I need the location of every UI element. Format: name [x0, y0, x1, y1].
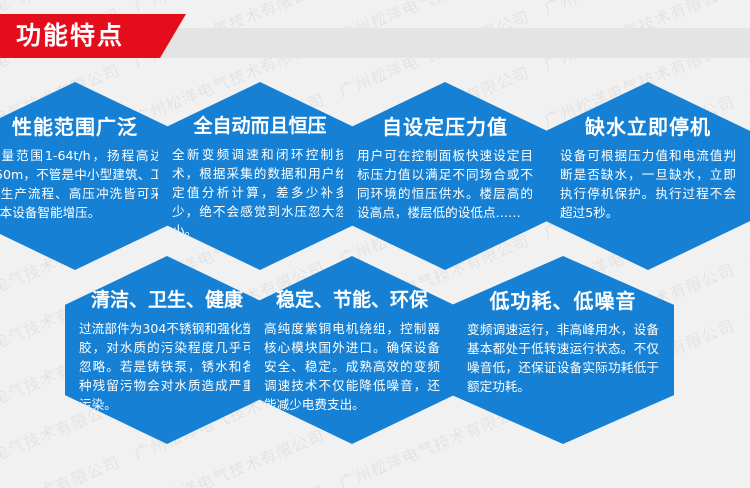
feature-body: 过流部件为304不锈钢和强化塑胶，对水质的污染程度几乎可忽略。若是铸铁泵，锈水和… [79, 319, 255, 414]
feature-highlights-page: 广州松洋电气技术有限公司 广州松洋电气技术有限公司 广州松洋电气技术有限公司 广… [0, 0, 750, 488]
feature-hex-5: 清洁、卫生、健康 过流部件为304不锈钢和强化塑胶，对水质的污染程度几乎可忽略。… [65, 256, 269, 444]
feature-title: 性能范围广泛 [12, 116, 138, 139]
feature-title: 全自动而且恒压 [193, 116, 326, 138]
feature-body: 高纯度紫铜电机绕组，控制器核心模块国外进口。确保设备安全、稳定。成熟高效的变频调… [264, 319, 440, 414]
feature-hex-4: 缺水立即停机 设备可根据压力值和电流值判断是否缺水，一旦缺水，立即执行停机保护。… [546, 82, 750, 270]
feature-body: 流量范围1-64t/h，扬程高达150m，不管是中小型建筑、工业生产流程、高压冲… [0, 146, 163, 222]
feature-hex-7: 低功耗、低噪音 变频调速运行，非高峰用水，设备基本都处于低转速运行状态。不仅噪音… [452, 256, 674, 444]
feature-hex-6: 稳定、节能、环保 高纯度紫铜电机绕组，控制器核心模块国外进口。确保设备安全、稳定… [250, 256, 454, 444]
feature-title: 稳定、节能、环保 [276, 290, 428, 312]
feature-title: 自设定压力值 [382, 116, 508, 139]
feature-hex-3: 自设定压力值 用户可在控制面板快速设定目标压力值以满足不同场合或不同环境的恒压供… [343, 82, 547, 270]
feature-body: 设备可根据压力值和电流值判断是否缺水，一旦缺水，立即执行停机保护。执行过程不会超… [560, 146, 736, 222]
page-title: 功能特点 [16, 14, 124, 58]
feature-title: 缺水立即停机 [585, 116, 711, 139]
hexagon-grid: 性能范围广泛 流量范围1-64t/h，扬程高达150m，不管是中小型建筑、工业生… [0, 0, 750, 488]
feature-hex-1: 性能范围广泛 流量范围1-64t/h，扬程高达150m，不管是中小型建筑、工业生… [0, 82, 177, 270]
feature-hex-2: 全自动而且恒压 全新变频调速和闭环控制技术，根据采集的数据和用户给定值分析计算，… [158, 82, 362, 270]
feature-title: 低功耗、低噪音 [490, 290, 637, 313]
feature-body: 用户可在控制面板快速设定目标压力值以满足不同场合或不同环境的恒压供水。楼层高的设… [357, 146, 533, 222]
feature-title: 清洁、卫生、健康 [91, 290, 243, 312]
feature-body: 全新变频调速和闭环控制技术，根据采集的数据和用户给定值分析计算，差多少补多少，绝… [172, 145, 348, 240]
feature-body: 变频调速运行，非高峰用水，设备基本都处于低转速运行状态。不仅噪音低，还保证设备实… [467, 320, 659, 396]
